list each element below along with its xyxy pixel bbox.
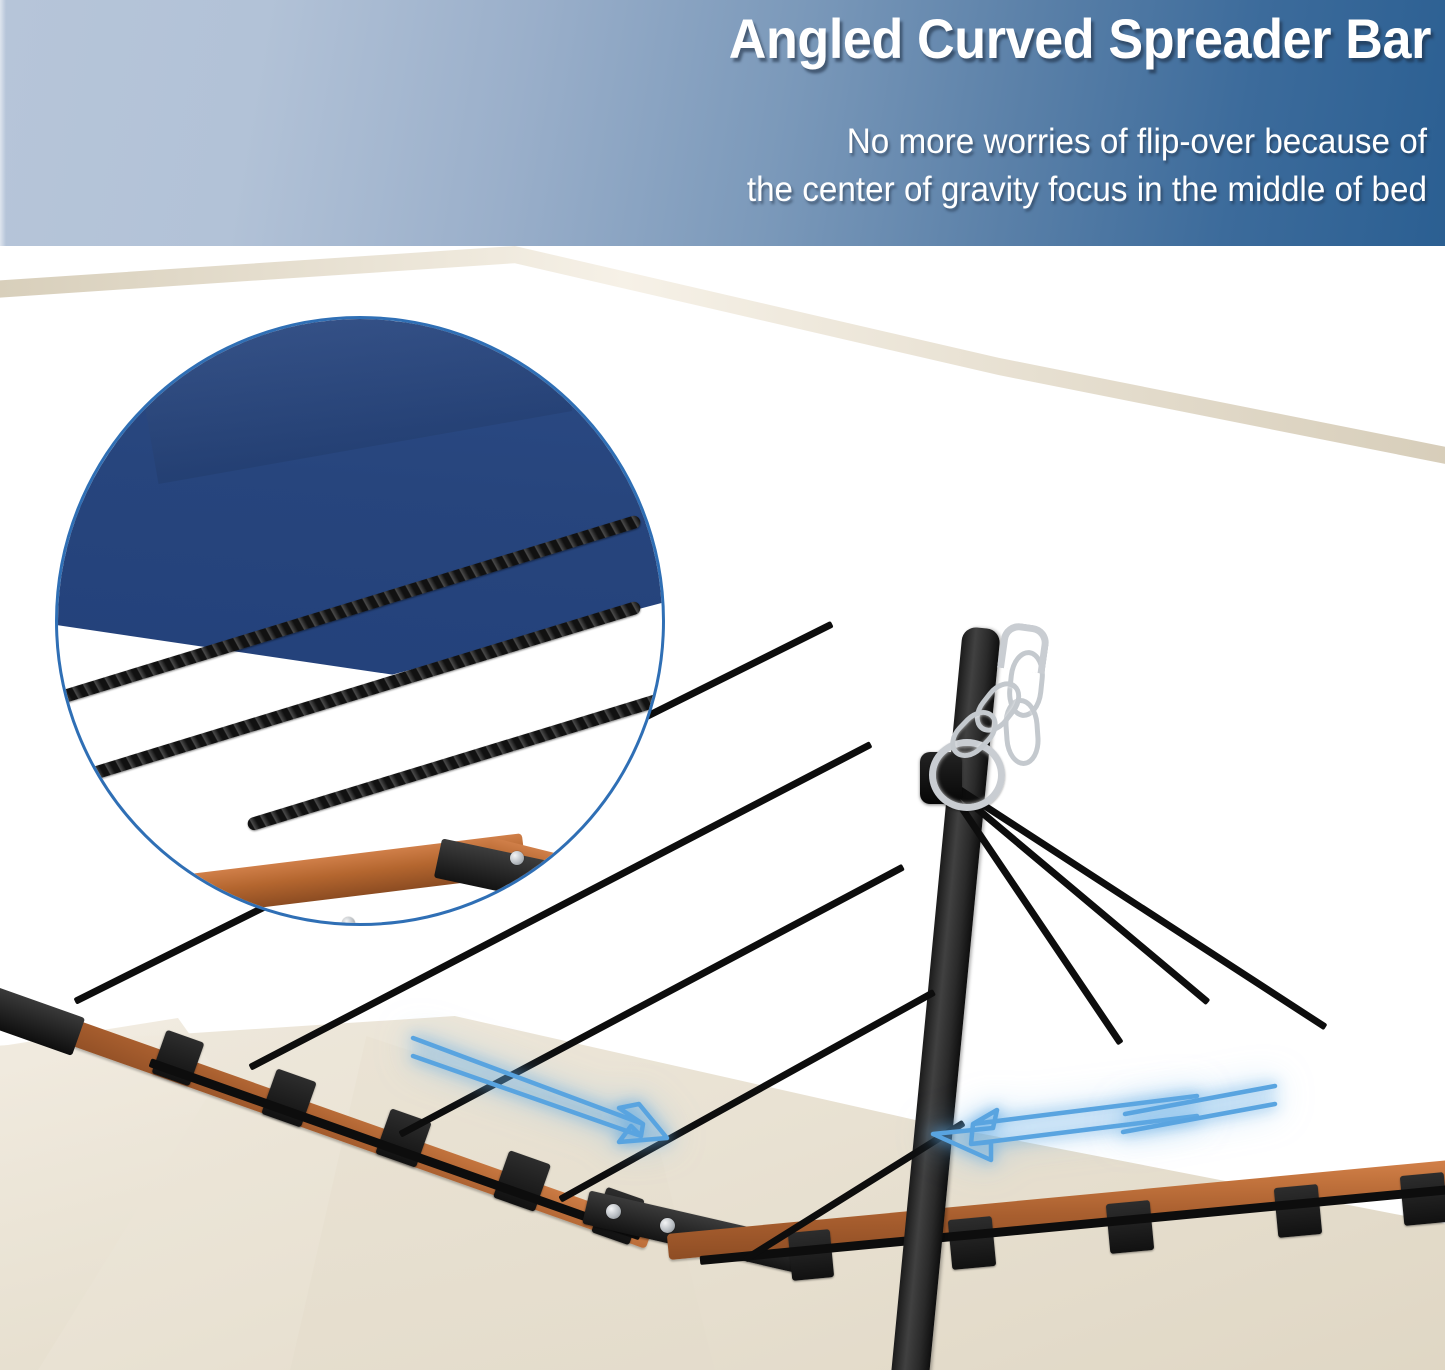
inset-bracket-screw (550, 861, 564, 875)
spreader-bar-closeup-inset (55, 316, 665, 926)
banner-subtitle-line-2: the center of gravity focus in the middl… (477, 166, 1427, 214)
inset-bracket-screw (342, 917, 355, 926)
product-feature-image: Angled Curved Spreader Bar No more worri… (0, 0, 1445, 1370)
inset-bracket-screw (510, 851, 524, 865)
bar-strap (1106, 1200, 1155, 1254)
arrow-left-pointing-right (405, 1016, 705, 1156)
inset-fabric-seam (124, 316, 572, 484)
header-banner: Angled Curved Spreader Bar No more worri… (0, 0, 1445, 246)
s-hook-icon (997, 621, 1051, 674)
bar-strap (1400, 1172, 1445, 1226)
suspension-rope (942, 777, 1327, 1031)
arrow-far-right-pointing-left (1095, 1070, 1295, 1160)
bracket-screw (606, 1204, 621, 1219)
banner-subtitle: No more worries of flip-over because of … (477, 118, 1427, 214)
banner-subtitle-line-1: No more worries of flip-over because of (477, 118, 1427, 166)
bar-strap (1274, 1184, 1323, 1238)
bar-strap (948, 1216, 997, 1270)
page-title: Angled Curved Spreader Bar (445, 8, 1431, 70)
bracket-screw (660, 1218, 675, 1233)
